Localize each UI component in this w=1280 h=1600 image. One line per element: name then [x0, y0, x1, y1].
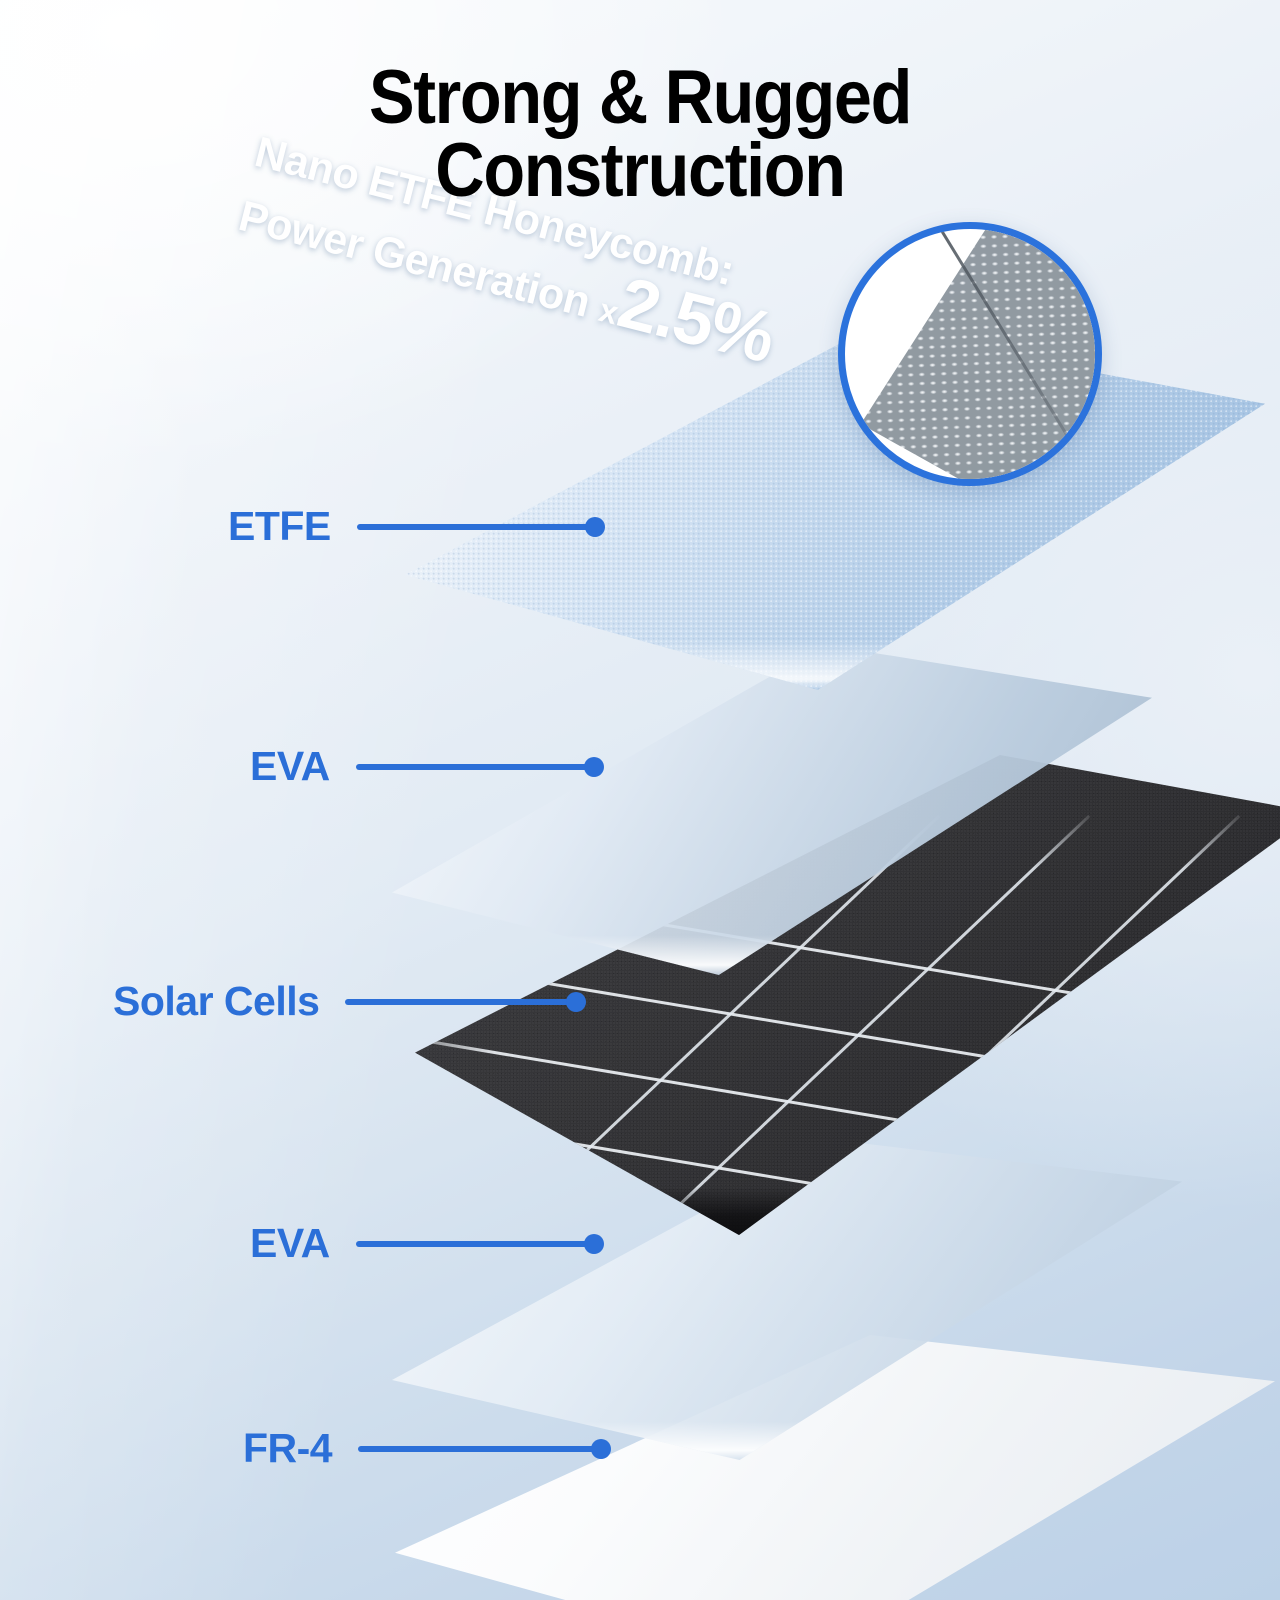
- callout-solar-cells: Solar Cells: [113, 978, 578, 1025]
- callout-fr4: FR-4: [243, 1425, 603, 1472]
- leader-line-fr4: [358, 1446, 603, 1452]
- page-title: Strong & Rugged Construction: [64, 62, 1216, 208]
- callout-label-fr4: FR-4: [243, 1425, 332, 1472]
- exploded-layer-stack: [0, 0, 1280, 1600]
- callout-eva-bottom: EVA: [250, 1220, 596, 1267]
- callout-label-eva-bottom: EVA: [250, 1220, 330, 1267]
- eva-top-edge-highlight: [392, 645, 1152, 975]
- leader-line-solar-cells: [345, 999, 578, 1005]
- leader-dot-eva-bottom: [584, 1234, 604, 1254]
- leader-dot-fr4: [591, 1439, 611, 1459]
- callout-label-eva-top: EVA: [250, 743, 330, 790]
- leader-line-etfe: [357, 524, 597, 530]
- leader-line-eva-bottom: [356, 1241, 596, 1247]
- callout-label-etfe: ETFE: [228, 503, 331, 550]
- callout-etfe: ETFE: [228, 503, 597, 550]
- honeycomb-chip-edge: [838, 222, 1102, 486]
- leader-line-eva-top: [356, 764, 596, 770]
- leader-dot-solar-cells: [566, 992, 586, 1012]
- infographic-canvas: Strong & Rugged Construction: [0, 0, 1280, 1600]
- callout-label-solar-cells: Solar Cells: [113, 978, 319, 1025]
- honeycomb-magnifier-circle: [838, 222, 1102, 486]
- layer-eva-top: [392, 645, 1152, 975]
- solar-cell-gridline: [1224, 815, 1280, 1258]
- callout-eva-top: EVA: [250, 743, 596, 790]
- leader-dot-eva-top: [584, 757, 604, 777]
- leader-dot-etfe: [585, 517, 605, 537]
